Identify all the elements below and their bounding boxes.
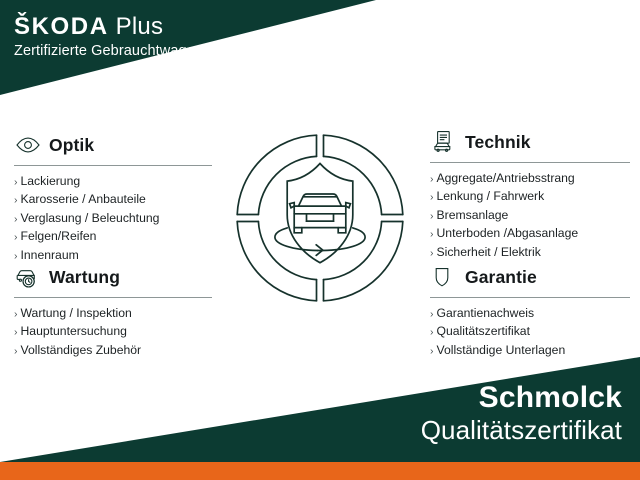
car-clock-icon xyxy=(14,264,42,290)
section-technik-header: Technik xyxy=(430,127,630,157)
section-optik-divider xyxy=(14,165,212,166)
list-item-label: Vollständige Unterlagen xyxy=(437,343,566,357)
list-item-label: Qualitätszertifikat xyxy=(437,324,530,338)
section-garantie-title: Garantie xyxy=(465,267,537,287)
logo-wordmark: ŠKODAPlus xyxy=(14,14,314,40)
logo-brand-suffix: Plus xyxy=(116,13,164,40)
list-item: ›Wartung / Inspektion xyxy=(14,305,212,323)
logo-brand-mark: ŠKODA xyxy=(14,13,109,40)
chevron-right-icon: › xyxy=(430,326,434,338)
section-wartung-header: Wartung xyxy=(14,262,212,292)
list-item-label: Verglasung / Beleuchtung xyxy=(21,211,160,225)
logo-tagline: Zertifizierte Gebrauchtwagen xyxy=(14,42,314,60)
list-item-label: Wartung / Inspektion xyxy=(21,306,132,320)
section-optik-title: Optik xyxy=(49,135,94,155)
list-item: ›Garantienachweis xyxy=(430,305,630,323)
section-garantie-list: ›Garantienachweis ›Qualitätszertifikat ›… xyxy=(430,305,630,360)
section-garantie-divider xyxy=(430,297,630,298)
section-wartung-divider xyxy=(14,297,212,298)
section-optik-header: Optik xyxy=(14,130,212,160)
skoda-plus-logo: ŠKODAPlus Zertifizierte Gebrauchtwagen xyxy=(14,14,314,60)
section-technik-list: ›Aggregate/Antriebsstrang ›Lenkung / Fah… xyxy=(430,170,630,262)
section-technik: Technik ›Aggregate/Antriebsstrang ›Lenku… xyxy=(430,127,630,262)
list-item-label: Karosserie / Anbauteile xyxy=(21,192,146,206)
list-item-label: Garantienachweis xyxy=(437,306,535,320)
list-item-label: Sicherheit / Elektrik xyxy=(437,245,541,259)
dealer-name: Schmolck xyxy=(421,381,622,415)
eye-icon xyxy=(14,132,42,158)
shield-car-orbit-emblem xyxy=(232,130,408,306)
certificate-page: ŠKODAPlus Zertifizierte Gebrauchtwagen O… xyxy=(0,0,640,480)
list-item: ›Lackierung xyxy=(14,173,212,191)
list-item: ›Unterboden /Abgasanlage xyxy=(430,225,630,243)
section-garantie: Garantie ›Garantienachweis ›Qualitätszer… xyxy=(430,262,630,360)
chevron-right-icon: › xyxy=(430,173,434,185)
list-item-label: Lackierung xyxy=(21,174,81,188)
chevron-right-icon: › xyxy=(430,247,434,259)
list-item: ›Sicherheit / Elektrik xyxy=(430,244,630,262)
list-item-label: Lenkung / Fahrwerk xyxy=(437,189,545,203)
shield-icon xyxy=(430,264,458,290)
chevron-right-icon: › xyxy=(430,191,434,203)
document-title: Qualitätszertifikat xyxy=(421,415,622,446)
list-item: ›Bremsanlage xyxy=(430,207,630,225)
list-item-label: Bremsanlage xyxy=(437,208,509,222)
section-technik-title: Technik xyxy=(465,132,531,152)
chevron-right-icon: › xyxy=(430,308,434,320)
chevron-right-icon: › xyxy=(14,194,18,206)
list-item: ›Felgen/Reifen xyxy=(14,228,212,246)
list-item-label: Aggregate/Antriebsstrang xyxy=(437,171,575,185)
section-wartung-list: ›Wartung / Inspektion ›Hauptuntersuchung… xyxy=(14,305,212,360)
document-car-icon xyxy=(430,129,458,155)
list-item-label: Innenraum xyxy=(21,248,79,262)
list-item: ›Hauptuntersuchung xyxy=(14,323,212,341)
list-item: ›Karosserie / Anbauteile xyxy=(14,191,212,209)
section-wartung-title: Wartung xyxy=(49,267,120,287)
chevron-right-icon: › xyxy=(430,210,434,222)
list-item-label: Vollständiges Zubehör xyxy=(21,343,142,357)
dealer-branding: Schmolck Qualitätszertifikat xyxy=(421,381,622,446)
chevron-right-icon: › xyxy=(14,176,18,188)
section-garantie-header: Garantie xyxy=(430,262,630,292)
list-item: ›Vollständige Unterlagen xyxy=(430,342,630,360)
list-item: ›Verglasung / Beleuchtung xyxy=(14,210,212,228)
accent-stripe xyxy=(0,462,640,480)
list-item-label: Unterboden /Abgasanlage xyxy=(437,226,579,240)
list-item: ›Qualitätszertifikat xyxy=(430,323,630,341)
chevron-right-icon: › xyxy=(14,308,18,320)
chevron-right-icon: › xyxy=(14,250,18,262)
chevron-right-icon: › xyxy=(430,345,434,357)
list-item: ›Lenkung / Fahrwerk xyxy=(430,188,630,206)
section-optik: Optik ›Lackierung ›Karosserie / Anbautei… xyxy=(14,130,212,265)
list-item-label: Felgen/Reifen xyxy=(21,229,97,243)
list-item-label: Hauptuntersuchung xyxy=(21,324,127,338)
chevron-right-icon: › xyxy=(14,345,18,357)
section-wartung: Wartung ›Wartung / Inspektion ›Hauptunte… xyxy=(14,262,212,360)
chevron-right-icon: › xyxy=(14,213,18,225)
section-optik-list: ›Lackierung ›Karosserie / Anbauteile ›Ve… xyxy=(14,173,212,265)
chevron-right-icon: › xyxy=(14,326,18,338)
chevron-right-icon: › xyxy=(14,231,18,243)
section-technik-divider xyxy=(430,162,630,163)
list-item: ›Vollständiges Zubehör xyxy=(14,342,212,360)
list-item: ›Aggregate/Antriebsstrang xyxy=(430,170,630,188)
chevron-right-icon: › xyxy=(430,228,434,240)
